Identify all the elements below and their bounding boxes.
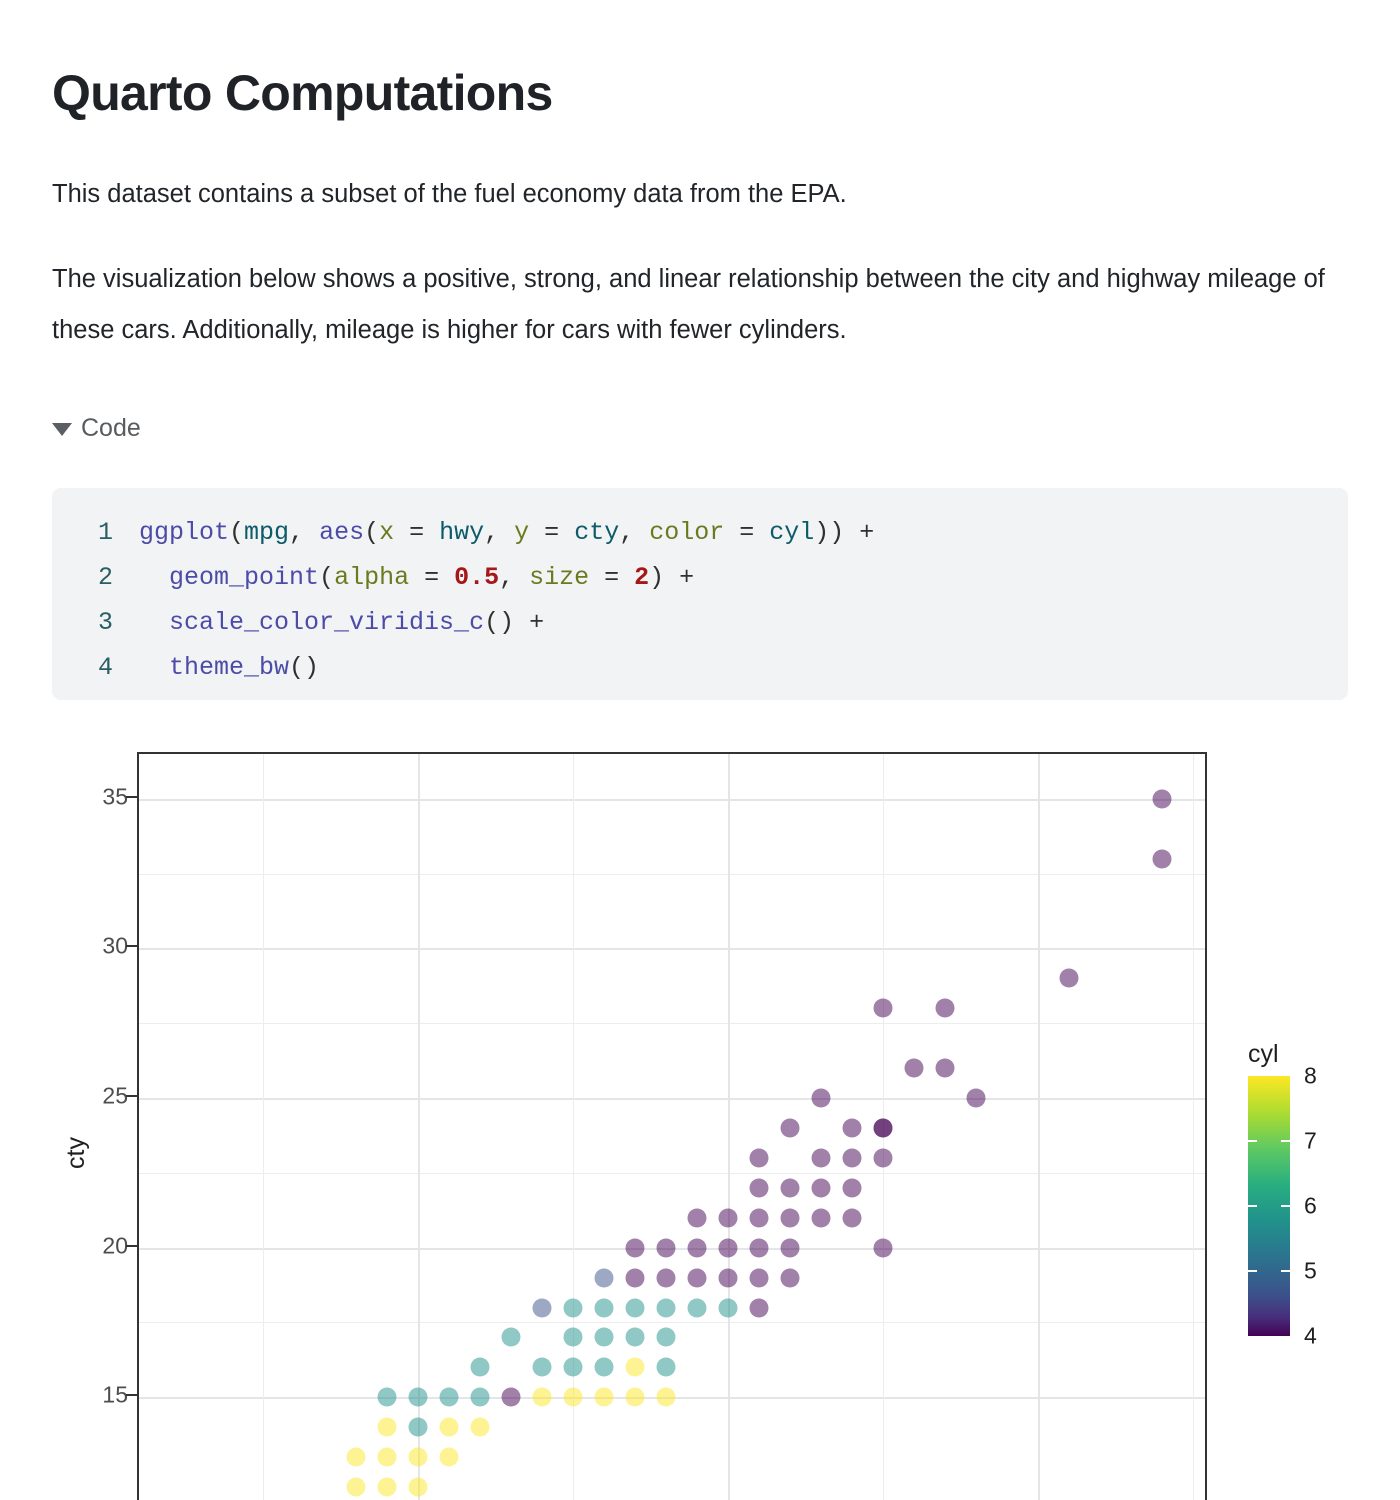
- y-axis-tick-label: 15: [102, 1382, 128, 1409]
- data-point: [564, 1328, 583, 1347]
- legend-tick-label: 8: [1304, 1063, 1317, 1090]
- data-point: [750, 1208, 769, 1227]
- code-line-number: 4: [52, 645, 139, 690]
- data-point: [812, 1208, 831, 1227]
- code-fold-label: Code: [81, 414, 141, 443]
- legend-colorbar: 87654: [1248, 1076, 1368, 1336]
- code-line-text: ggplot(mpg, aes(x = hwy, y = cty, color …: [139, 510, 874, 555]
- data-point: [440, 1388, 459, 1407]
- y-axis-title: cty: [62, 1137, 91, 1169]
- data-point: [688, 1238, 707, 1257]
- data-point: [936, 1059, 955, 1078]
- data-point: [688, 1208, 707, 1227]
- data-point: [719, 1298, 738, 1317]
- gridline-horizontal-major: [139, 1098, 1205, 1100]
- color-legend: cyl 87654: [1248, 1040, 1378, 1336]
- data-point: [688, 1298, 707, 1317]
- data-point: [750, 1238, 769, 1257]
- gridline-vertical: [1193, 754, 1194, 1500]
- gridline-horizontal-minor: [139, 1322, 1205, 1323]
- data-point: [905, 1059, 924, 1078]
- data-point: [750, 1298, 769, 1317]
- data-point: [378, 1418, 397, 1437]
- gridline-vertical: [728, 754, 730, 1500]
- data-point: [750, 1268, 769, 1287]
- code-block[interactable]: 1ggplot(mpg, aes(x = hwy, y = cty, color…: [52, 488, 1348, 700]
- gridline-horizontal-minor: [139, 1023, 1205, 1024]
- code-line: 2 geom_point(alpha = 0.5, size = 2) +: [52, 555, 1348, 600]
- code-line-number: 3: [52, 600, 139, 645]
- data-point: [409, 1448, 428, 1467]
- data-point: [502, 1328, 521, 1347]
- legend-tick-label: 4: [1304, 1323, 1317, 1350]
- gridline-horizontal-minor: [139, 874, 1205, 875]
- legend-tick-mark: [1248, 1140, 1257, 1142]
- data-point: [564, 1388, 583, 1407]
- legend-tick-mark: [1281, 1270, 1290, 1272]
- data-point: [967, 1089, 986, 1108]
- data-point: [409, 1418, 428, 1437]
- data-point: [657, 1238, 676, 1257]
- data-point: [347, 1448, 366, 1467]
- data-point: [657, 1358, 676, 1377]
- description-paragraph: The visualization below shows a positive…: [52, 254, 1342, 356]
- data-point: [750, 1148, 769, 1167]
- legend-tick-label: 5: [1304, 1258, 1317, 1285]
- scatter-plot: 1520253035 cty cyl 87654: [0, 744, 1400, 1500]
- legend-tick-mark: [1281, 1140, 1290, 1142]
- data-point: [719, 1208, 738, 1227]
- gridline-horizontal-major: [139, 799, 1205, 801]
- data-point: [1153, 789, 1172, 808]
- data-point: [781, 1238, 800, 1257]
- legend-tick-label: 6: [1304, 1193, 1317, 1220]
- data-point: [595, 1358, 614, 1377]
- data-point: [626, 1298, 645, 1317]
- data-point: [595, 1298, 614, 1317]
- intro-paragraph: This dataset contains a subset of the fu…: [52, 169, 1342, 220]
- data-point: [688, 1268, 707, 1287]
- data-point: [440, 1448, 459, 1467]
- data-point: [471, 1388, 490, 1407]
- data-point: [874, 999, 893, 1018]
- data-point: [502, 1388, 521, 1407]
- y-axis-tick-mark: [126, 1394, 137, 1396]
- legend-tick-mark: [1248, 1205, 1257, 1207]
- data-point: [657, 1298, 676, 1317]
- data-point: [626, 1238, 645, 1257]
- data-point: [564, 1358, 583, 1377]
- data-point: [657, 1268, 676, 1287]
- y-axis-tick-label: 20: [102, 1232, 128, 1259]
- legend-tick-label: 7: [1304, 1128, 1317, 1155]
- data-point: [874, 1119, 893, 1138]
- y-axis-tick-mark: [126, 1245, 137, 1247]
- data-point: [378, 1478, 397, 1497]
- data-point: [936, 999, 955, 1018]
- data-point: [719, 1238, 738, 1257]
- data-point: [471, 1358, 490, 1377]
- data-point: [1060, 969, 1079, 988]
- code-line: 4 theme_bw(): [52, 645, 1348, 690]
- gridline-vertical: [263, 754, 264, 1500]
- code-line-number: 2: [52, 555, 139, 600]
- gridline-vertical: [1038, 754, 1040, 1500]
- data-point: [533, 1298, 552, 1317]
- data-point: [843, 1148, 862, 1167]
- triangle-down-icon: [52, 423, 72, 436]
- y-axis-tick-mark: [126, 1095, 137, 1097]
- data-point: [812, 1089, 831, 1108]
- data-point: [440, 1418, 459, 1437]
- data-point: [626, 1268, 645, 1287]
- y-axis-tick-label: 30: [102, 933, 128, 960]
- data-point: [378, 1388, 397, 1407]
- data-point: [409, 1478, 428, 1497]
- data-point: [533, 1388, 552, 1407]
- page-title: Quarto Computations: [52, 64, 553, 122]
- data-point: [657, 1328, 676, 1347]
- code-line-text: geom_point(alpha = 0.5, size = 2) +: [139, 555, 694, 600]
- code-line-text: scale_color_viridis_c() +: [139, 600, 544, 645]
- data-point: [781, 1119, 800, 1138]
- data-point: [533, 1358, 552, 1377]
- data-point: [719, 1268, 738, 1287]
- data-point: [1153, 849, 1172, 868]
- code-line-number: 1: [52, 510, 139, 555]
- data-point: [812, 1148, 831, 1167]
- document-page: Quarto Computations This dataset contain…: [0, 0, 1400, 1500]
- data-point: [843, 1178, 862, 1197]
- data-point: [595, 1328, 614, 1347]
- plot-panel: [137, 752, 1207, 1500]
- legend-tick-mark: [1248, 1270, 1257, 1272]
- data-point: [347, 1478, 366, 1497]
- data-point: [564, 1298, 583, 1317]
- code-line: 3 scale_color_viridis_c() +: [52, 600, 1348, 645]
- gridline-horizontal-minor: [139, 1173, 1205, 1174]
- data-point: [843, 1119, 862, 1138]
- data-point: [874, 1148, 893, 1167]
- data-point: [843, 1208, 862, 1227]
- data-point: [781, 1208, 800, 1227]
- data-point: [812, 1178, 831, 1197]
- y-axis-tick-label: 35: [102, 783, 128, 810]
- data-point: [471, 1418, 490, 1437]
- data-point: [781, 1178, 800, 1197]
- data-point: [595, 1268, 614, 1287]
- code-fold-toggle[interactable]: Code: [52, 414, 141, 443]
- y-axis-tick-label: 25: [102, 1083, 128, 1110]
- data-point: [595, 1388, 614, 1407]
- legend-tick-mark: [1281, 1205, 1290, 1207]
- data-point: [750, 1178, 769, 1197]
- code-line: 1ggplot(mpg, aes(x = hwy, y = cty, color…: [52, 510, 1348, 555]
- data-point: [781, 1268, 800, 1287]
- data-point: [409, 1388, 428, 1407]
- data-point: [874, 1238, 893, 1257]
- data-point: [626, 1388, 645, 1407]
- data-point: [378, 1448, 397, 1467]
- gridline-horizontal-major: [139, 948, 1205, 950]
- data-point: [657, 1388, 676, 1407]
- data-point: [626, 1328, 645, 1347]
- code-line-text: theme_bw(): [139, 645, 319, 690]
- y-axis-tick-mark: [126, 796, 137, 798]
- y-axis-tick-mark: [126, 945, 137, 947]
- data-point: [626, 1358, 645, 1377]
